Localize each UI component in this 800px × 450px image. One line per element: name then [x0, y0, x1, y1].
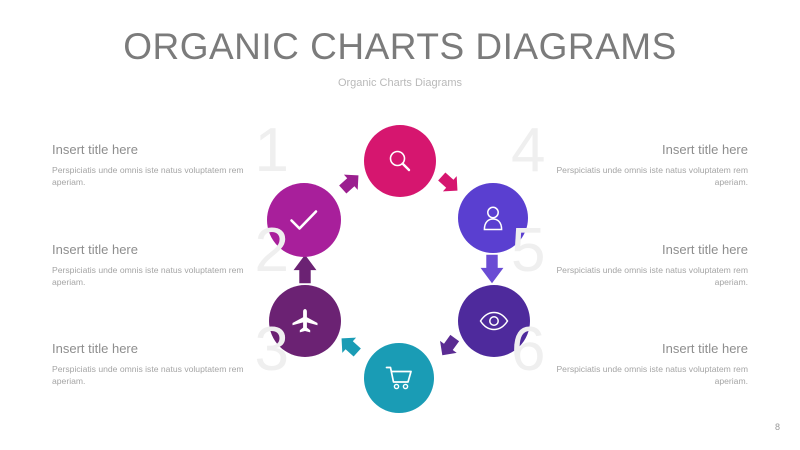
arrow-search-to-user — [431, 165, 468, 202]
text-block-title-2: Insert title here — [52, 242, 267, 257]
text-block-body-4: Perspiciatis unde omnis iste natus volup… — [533, 164, 748, 189]
eye-icon — [479, 311, 509, 331]
check-icon — [289, 208, 319, 232]
text-block-body-6: Perspiciatis unde omnis iste natus volup… — [533, 363, 748, 388]
text-block-title-1: Insert title here — [52, 142, 267, 157]
text-block-body-5: Perspiciatis unde omnis iste natus volup… — [533, 264, 748, 289]
text-block-6[interactable]: 6 Insert title here Perspiciatis unde om… — [533, 341, 748, 388]
text-block-body-3: Perspiciatis unde omnis iste natus volup… — [52, 363, 267, 388]
text-block-title-4: Insert title here — [533, 142, 748, 157]
text-block-2[interactable]: 2 Insert title here Perspiciatis unde om… — [52, 242, 267, 289]
search-icon — [387, 148, 413, 174]
cycle-node-cart[interactable] — [364, 343, 434, 413]
page-subtitle: Organic Charts Diagrams — [0, 77, 800, 89]
page-number: 8 — [775, 422, 780, 432]
page-title: ORGANIC CHARTS DIAGRAMS — [0, 26, 800, 68]
arrow-user-to-eye — [478, 253, 506, 285]
arrow-plane-to-check — [291, 253, 319, 285]
text-block-3[interactable]: 3 Insert title here Perspiciatis unde om… — [52, 341, 267, 388]
text-block-5[interactable]: 5 Insert title here Perspiciatis unde om… — [533, 242, 748, 289]
user-icon — [481, 205, 505, 231]
text-block-body-1: Perspiciatis unde omnis iste natus volup… — [52, 164, 267, 189]
text-block-body-2: Perspiciatis unde omnis iste natus volup… — [52, 264, 267, 289]
text-block-title-6: Insert title here — [533, 341, 748, 356]
shopping-cart-icon — [385, 365, 413, 391]
cycle-node-search[interactable] — [364, 125, 436, 197]
text-block-title-3: Insert title here — [52, 341, 267, 356]
text-block-title-5: Insert title here — [533, 242, 748, 257]
cycle-diagram — [260, 125, 540, 410]
slide: ORGANIC CHARTS DIAGRAMS Organic Charts D… — [0, 0, 800, 450]
arrow-check-to-search — [332, 165, 369, 202]
airplane-icon — [291, 308, 319, 334]
text-block-1[interactable]: 1 Insert title here Perspiciatis unde om… — [52, 142, 267, 189]
text-block-4[interactable]: 4 Insert title here Perspiciatis unde om… — [533, 142, 748, 189]
